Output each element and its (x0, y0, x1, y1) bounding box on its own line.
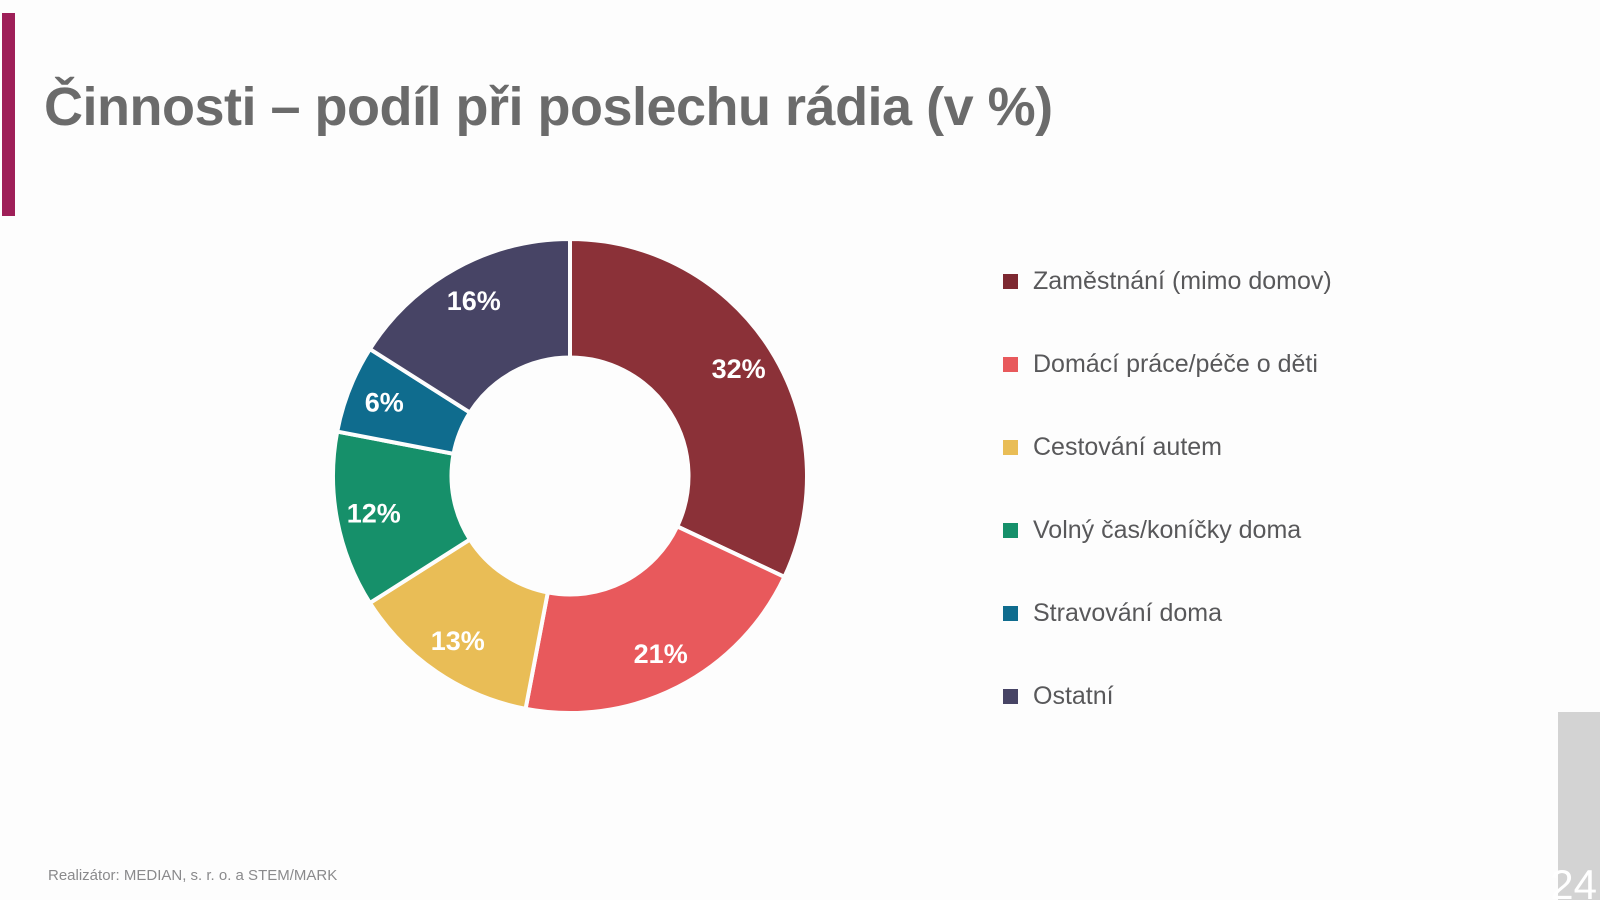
donut-slice-label: 21% (634, 639, 688, 669)
chart-legend: Zaměstnání (mimo domov)Domácí práce/péče… (1003, 240, 1423, 738)
page-number: 24 (1550, 864, 1597, 900)
donut-slice-label: 16% (447, 286, 501, 316)
legend-item[interactable]: Zaměstnání (mimo domov) (1003, 240, 1423, 323)
legend-swatch-icon (1003, 274, 1018, 289)
legend-swatch-icon (1003, 689, 1018, 704)
legend-item-label: Domácí práce/péče o děti (1033, 352, 1318, 377)
legend-swatch-icon (1003, 440, 1018, 455)
legend-swatch-icon (1003, 606, 1018, 621)
legend-item-label: Zaměstnání (mimo domov) (1033, 269, 1332, 294)
page-number-block: 24 (1558, 712, 1600, 900)
donut-slice-label: 32% (712, 354, 766, 384)
legend-item[interactable]: Domácí práce/péče o děti (1003, 323, 1423, 406)
donut-slice-label: 6% (365, 387, 404, 417)
legend-item-label: Volný čas/koníčky doma (1033, 518, 1301, 543)
legend-swatch-icon (1003, 357, 1018, 372)
page-title: Činnosti – podíl při poslechu rádia (v %… (44, 78, 1224, 136)
legend-swatch-icon (1003, 523, 1018, 538)
donut-slice-group (333, 239, 807, 713)
slide-canvas: Činnosti – podíl při poslechu rádia (v %… (0, 0, 1600, 900)
legend-item[interactable]: Volný čas/koníčky doma (1003, 489, 1423, 572)
legend-item-label: Stravování doma (1033, 601, 1222, 626)
legend-item-label: Cestování autem (1033, 435, 1222, 460)
donut-chart-svg: 32%21%13%12%6%16% (331, 237, 809, 715)
legend-item[interactable]: Cestování autem (1003, 406, 1423, 489)
donut-slice-label: 12% (347, 498, 401, 528)
donut-chart: 32%21%13%12%6%16% (331, 237, 809, 715)
legend-item[interactable]: Stravování doma (1003, 572, 1423, 655)
donut-slice-label: 13% (431, 626, 485, 656)
donut-slice[interactable] (570, 239, 807, 577)
left-accent-bar (2, 13, 15, 216)
footer-note: Realizátor: MEDIAN, s. r. o. a STEM/MARK (48, 867, 337, 884)
legend-item-label: Ostatní (1033, 684, 1114, 709)
legend-item[interactable]: Ostatní (1003, 655, 1423, 738)
